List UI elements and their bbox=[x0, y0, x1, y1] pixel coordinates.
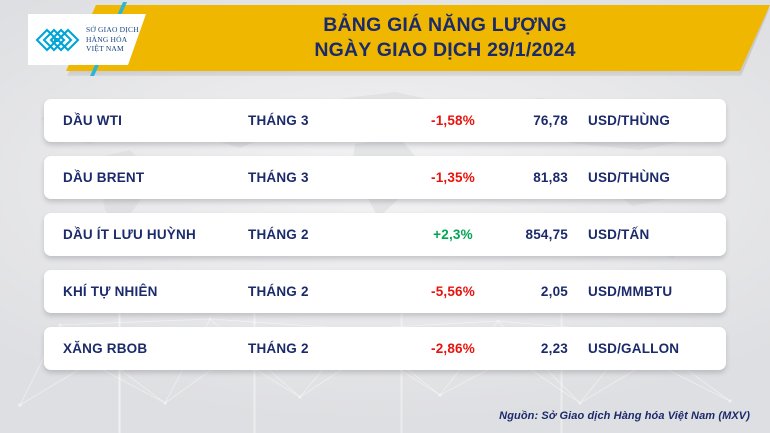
logo-card: SỞ GIAO DỊCH HÀNG HÓA VIỆT NAM bbox=[28, 14, 146, 65]
commodity-name: XĂNG RBOB bbox=[63, 341, 147, 356]
logo-text: SỞ GIAO DỊCH HÀNG HÓA VIỆT NAM bbox=[86, 25, 139, 54]
table-row[interactable]: XĂNG RBOBTHÁNG 2-2,86%2,23USD/GALLON bbox=[44, 327, 726, 370]
price-unit: USD/THÙNG bbox=[588, 113, 670, 128]
commodity-name: DẦU BRENT bbox=[63, 170, 144, 185]
price-row-list: DẦU WTITHÁNG 3-1,58%76,78USD/THÙNGDẦU BR… bbox=[44, 99, 726, 384]
commodity-name: DẦU ÍT LƯU HUỲNH bbox=[63, 227, 196, 242]
logo-line-2: HÀNG HÓA bbox=[86, 35, 139, 45]
mxv-chevron-logo-mark bbox=[34, 23, 82, 57]
logo-line-3: VIỆT NAM bbox=[86, 44, 139, 54]
title-line-2: NGÀY GIAO DỊCH 29/1/2024 bbox=[314, 38, 575, 63]
table-row[interactable]: KHÍ TỰ NHIÊNTHÁNG 2-5,56%2,05USD/MMBTU bbox=[44, 270, 726, 313]
price-value: 2,05 bbox=[448, 284, 568, 299]
table-row[interactable]: DẦU ÍT LƯU HUỲNHTHÁNG 2+2,3%854,75USD/TẤ… bbox=[44, 213, 726, 256]
source-note: Nguồn: Sở Giao dịch Hàng hóa Việt Nam (M… bbox=[499, 410, 750, 422]
price-value: 854,75 bbox=[448, 227, 568, 242]
contract-month: THÁNG 3 bbox=[248, 113, 309, 128]
price-value: 76,78 bbox=[448, 113, 568, 128]
price-unit: USD/GALLON bbox=[588, 341, 679, 356]
title-line-1: BẢNG GIÁ NĂNG LƯỢNG bbox=[323, 13, 567, 38]
contract-month: THÁNG 2 bbox=[248, 341, 309, 356]
table-row[interactable]: DẦU BRENTTHÁNG 3-1,35%81,83USD/THÙNG bbox=[44, 156, 726, 199]
energy-price-board: SỞ GIAO DỊCH HÀNG HÓA VIỆT NAM BẢNG GIÁ … bbox=[0, 0, 770, 433]
table-row[interactable]: DẦU WTITHÁNG 3-1,58%76,78USD/THÙNG bbox=[44, 99, 726, 142]
price-value: 2,23 bbox=[448, 341, 568, 356]
page-title: BẢNG GIÁ NĂNG LƯỢNG NGÀY GIAO DỊCH 29/1/… bbox=[150, 8, 740, 68]
logo-line-1: SỞ GIAO DỊCH bbox=[86, 25, 139, 35]
commodity-name: KHÍ TỰ NHIÊN bbox=[63, 284, 158, 299]
price-unit: USD/TẤN bbox=[588, 227, 649, 242]
price-value: 81,83 bbox=[448, 170, 568, 185]
contract-month: THÁNG 3 bbox=[248, 170, 309, 185]
price-unit: USD/THÙNG bbox=[588, 170, 670, 185]
price-unit: USD/MMBTU bbox=[588, 284, 672, 299]
contract-month: THÁNG 2 bbox=[248, 284, 309, 299]
commodity-name: DẦU WTI bbox=[63, 113, 122, 128]
header: SỞ GIAO DỊCH HÀNG HÓA VIỆT NAM BẢNG GIÁ … bbox=[0, 0, 770, 78]
contract-month: THÁNG 2 bbox=[248, 227, 309, 242]
